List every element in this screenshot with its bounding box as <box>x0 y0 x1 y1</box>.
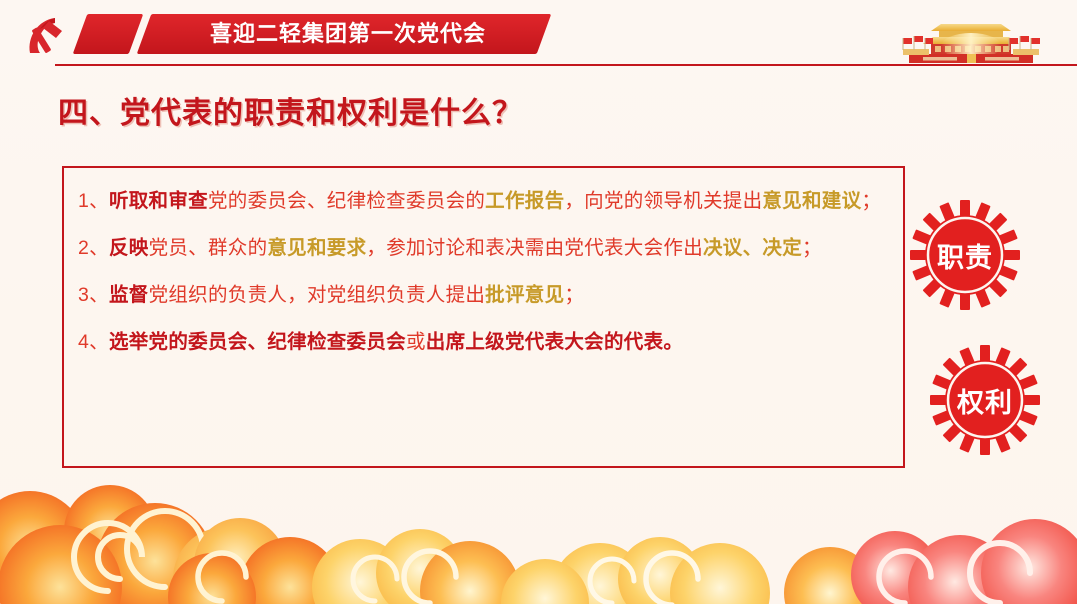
clause-segment: ，向党的领导机关提出 <box>564 190 762 212</box>
clause-segment: 选举党的委员会、纪律检查委员会 <box>109 331 406 353</box>
gear-badge-icon <box>906 301 1024 318</box>
clause-number: 4、 <box>78 331 109 353</box>
clause-segment: 或 <box>406 331 426 353</box>
clause-segment: 听取和审查 <box>109 190 208 212</box>
clause-segment: 工作报告 <box>485 190 564 212</box>
badge-rights: 权利 <box>926 341 1044 459</box>
clause-number: 2、 <box>78 237 109 259</box>
clause-item: 4、选举党的委员会、纪律检查委员会或出席上级党代表大会的代表。 <box>78 319 898 366</box>
clause-item: 3、监督党组织的负责人，对党组织负责人提出批评意见； <box>78 272 898 319</box>
clause-segment: ； <box>861 190 881 212</box>
clause-segment: 决议、决定 <box>703 237 802 259</box>
clause-item: 1、听取和审查党的委员会、纪律检查委员会的工作报告，向党的领导机关提出意见和建议… <box>78 178 898 225</box>
clause-segment: 出席上级党代表大会的代表。 <box>426 331 683 353</box>
clause-segment: 反映 <box>109 237 149 259</box>
slide-root: 喜迎二轻集团第一次党代会 <box>0 0 1077 604</box>
clause-number: 3、 <box>78 284 109 306</box>
auspicious-cloud-pattern <box>0 469 1077 604</box>
clause-segment: ，参加讨论和表决需由党代表大会作出 <box>366 237 703 259</box>
clause-segment: 批评意见 <box>485 284 564 306</box>
clause-segment: 意见和要求 <box>267 237 366 259</box>
clause-item: 2、反映党员、群众的意见和要求，参加讨论和表决需由党代表大会作出决议、决定； <box>78 225 898 272</box>
gear-badge-icon <box>926 446 1044 463</box>
clause-segment: 党的委员会、纪律检查委员会的 <box>208 190 485 212</box>
clause-segment: 监督 <box>109 284 149 306</box>
clause-segment: 党组织的负责人，对党组织负责人提出 <box>149 284 486 306</box>
banner-title: 喜迎二轻集团第一次党代会 <box>168 17 528 51</box>
tiananmen-gate-icon <box>883 16 1059 68</box>
clause-segment: 意见和建议 <box>762 190 861 212</box>
banner-accent-chip <box>73 14 144 54</box>
clause-number: 1、 <box>78 190 109 212</box>
party-hammer-sickle-icon <box>22 13 70 61</box>
badge-duty: 职责 <box>906 196 1024 314</box>
clause-segment: ； <box>802 237 822 259</box>
clause-list: 1、听取和审查党的委员会、纪律检查委员会的工作报告，向党的领导机关提出意见和建议… <box>78 178 898 366</box>
clause-segment: 党员、群众的 <box>149 237 268 259</box>
clause-segment: ； <box>564 284 584 306</box>
page-title: 四、党代表的职责和权利是什么？ <box>58 88 523 132</box>
slide-header: 喜迎二轻集团第一次党代会 <box>0 0 1077 72</box>
